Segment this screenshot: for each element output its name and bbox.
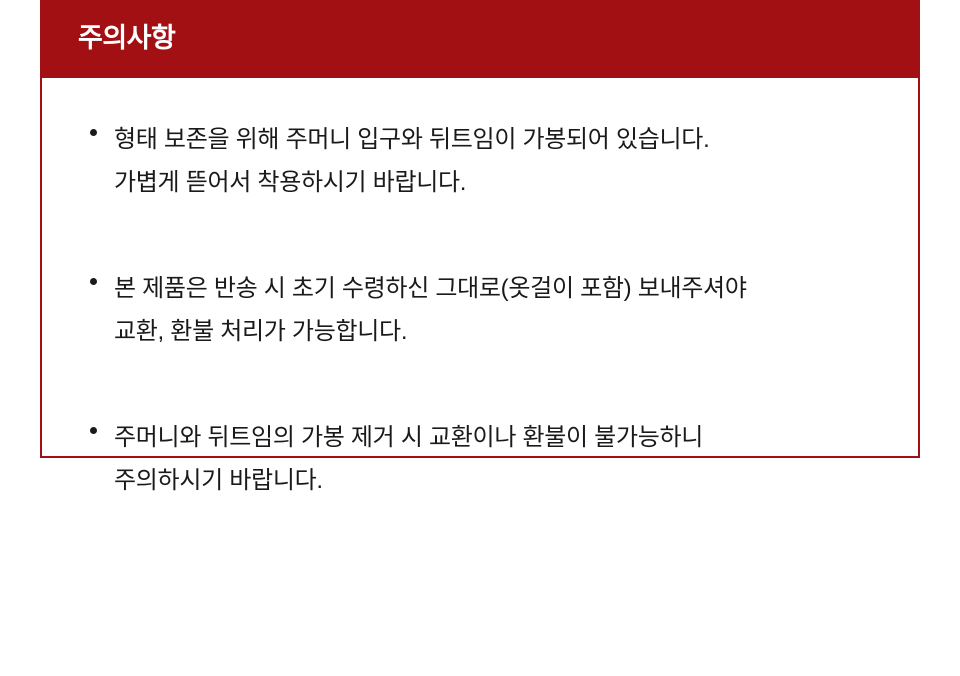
list-item: 형태 보존을 위해 주머니 입구와 뒤트임이 가봉되어 있습니다. 가볍게 뜯어…: [42, 118, 918, 204]
list-item-line: 본 제품은 반송 시 초기 수령하신 그대로(옷걸이 포함) 보내주셔야: [114, 267, 918, 310]
notice-bullet-list: 형태 보존을 위해 주머니 입구와 뒤트임이 가봉되어 있습니다. 가볍게 뜯어…: [42, 78, 918, 502]
bullet-dot-icon: [90, 427, 97, 434]
list-item-line: 주의하시기 바랍니다.: [114, 459, 918, 502]
list-item-text: 주머니와 뒤트임의 가봉 제거 시 교환이나 환불이 불가능하니 주의하시기 바…: [114, 416, 918, 502]
list-item-line: 교환, 환불 처리가 가능합니다.: [114, 310, 918, 353]
notice-panel: 주의사항 형태 보존을 위해 주머니 입구와 뒤트임이 가봉되어 있습니다. 가…: [40, 0, 920, 458]
list-item-line: 가볍게 뜯어서 착용하시기 바랍니다.: [114, 161, 918, 204]
bullet-dot-icon: [90, 129, 97, 136]
list-item: 주머니와 뒤트임의 가봉 제거 시 교환이나 환불이 불가능하니 주의하시기 바…: [42, 416, 918, 502]
page-title: 주의사항: [78, 20, 175, 56]
list-item-line: 주머니와 뒤트임의 가봉 제거 시 교환이나 환불이 불가능하니: [114, 416, 918, 459]
list-item-text: 본 제품은 반송 시 초기 수령하신 그대로(옷걸이 포함) 보내주셔야 교환,…: [114, 267, 918, 353]
list-item-line: 형태 보존을 위해 주머니 입구와 뒤트임이 가봉되어 있습니다.: [114, 118, 918, 161]
notice-body: 형태 보존을 위해 주머니 입구와 뒤트임이 가봉되어 있습니다. 가볍게 뜯어…: [40, 78, 920, 458]
list-item-text: 형태 보존을 위해 주머니 입구와 뒤트임이 가봉되어 있습니다. 가볍게 뜯어…: [114, 118, 918, 204]
list-item: 본 제품은 반송 시 초기 수령하신 그대로(옷걸이 포함) 보내주셔야 교환,…: [42, 267, 918, 353]
notice-header-bar: 주의사항: [40, 0, 920, 78]
bullet-dot-icon: [90, 278, 97, 285]
